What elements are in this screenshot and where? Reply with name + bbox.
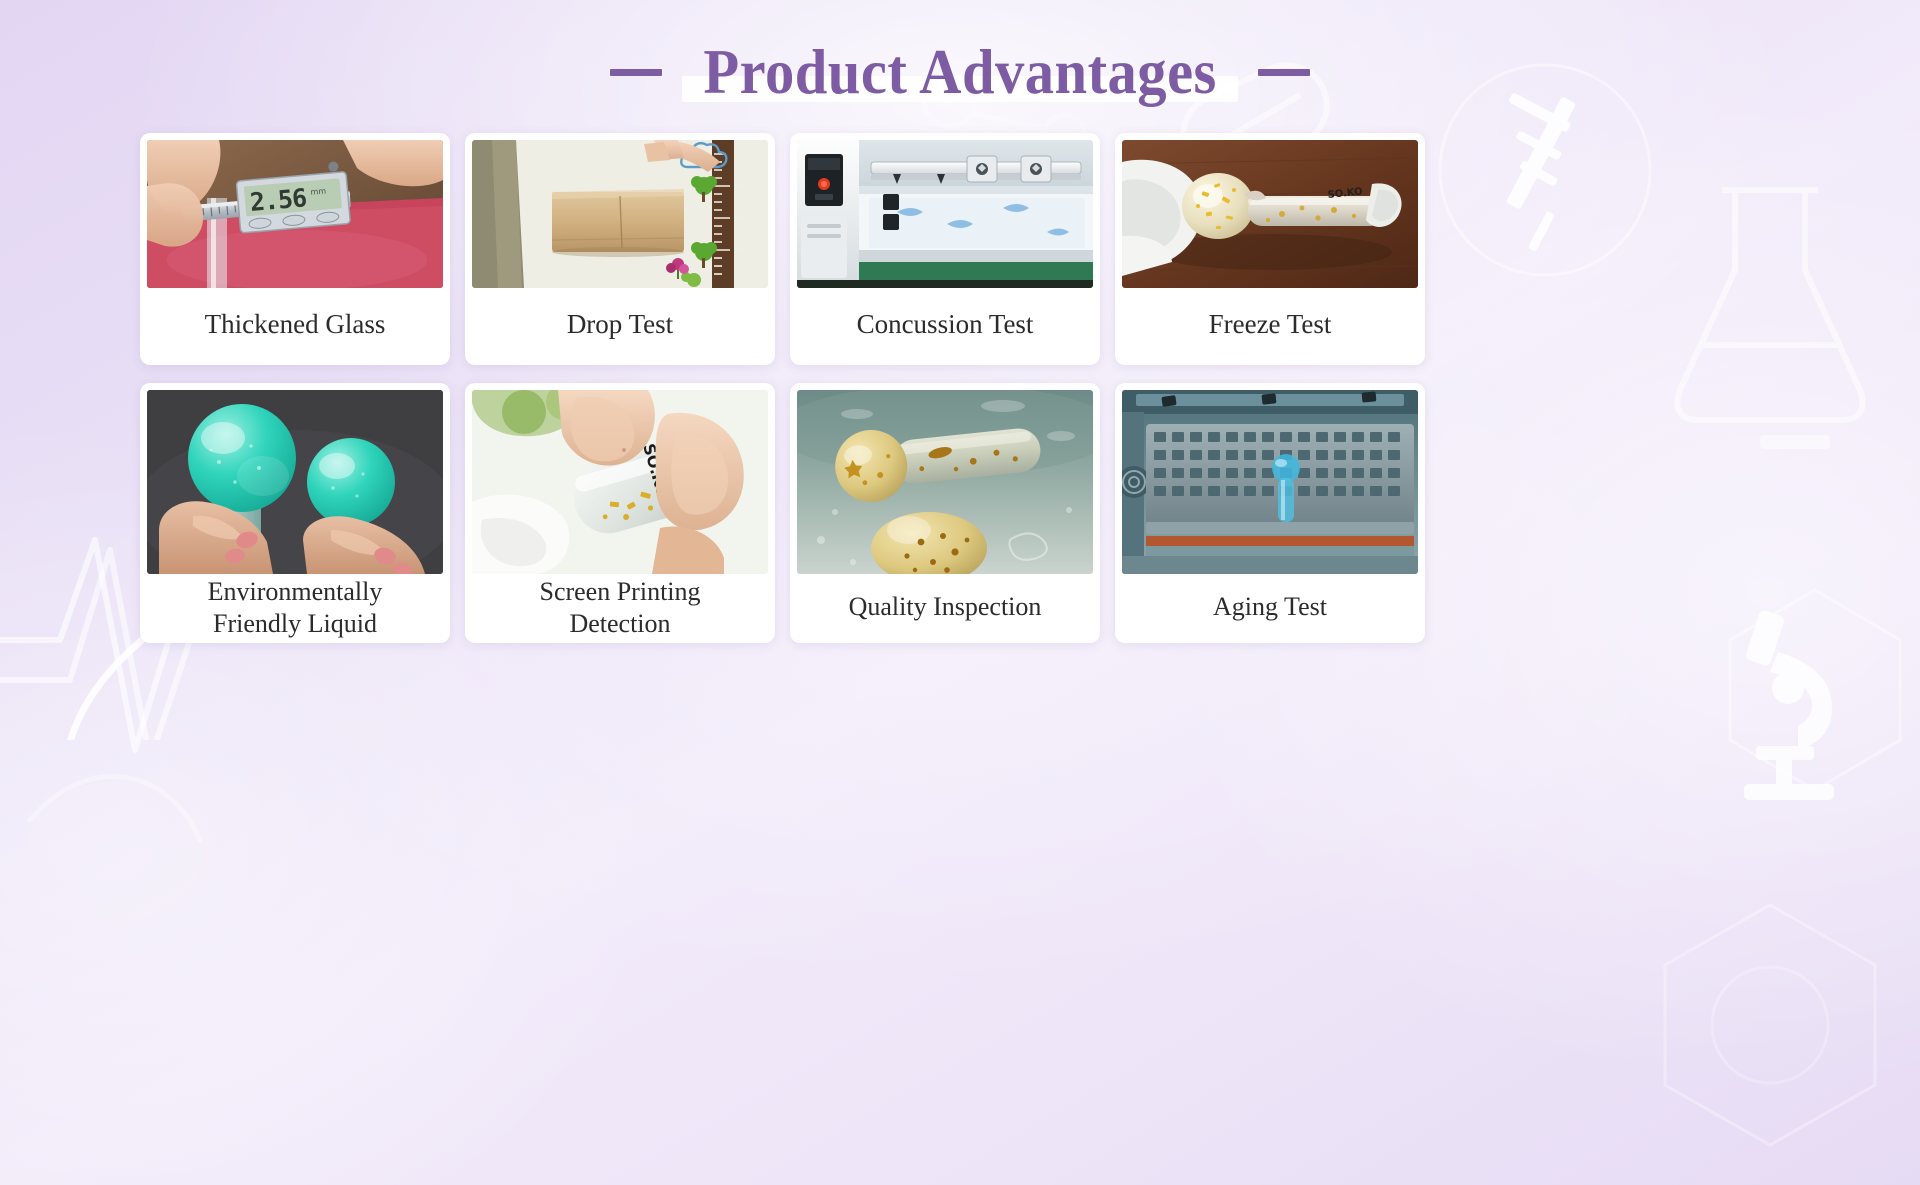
card-drop-test[interactable]: 804030 bbox=[465, 133, 775, 365]
card-concussion-test[interactable]: Concussion Test bbox=[790, 133, 1100, 365]
caption-drop-test: Drop Test bbox=[472, 288, 768, 365]
caption-quality-inspection: Quality Inspection bbox=[797, 574, 1093, 643]
caption-freeze-test: Freeze Test bbox=[1122, 288, 1418, 365]
caption-concussion-test: Concussion Test bbox=[797, 288, 1093, 365]
page-title-block: Product Advantages bbox=[0, 26, 1920, 118]
svg-text:80: 80 bbox=[734, 183, 742, 190]
hexagon-outline-icon bbox=[1620, 880, 1920, 1180]
card-thickened-glass[interactable]: 2.56 mm Thickened Glass bbox=[140, 133, 450, 365]
caption-screen-printing-detection: Screen Printing Detection bbox=[472, 574, 768, 643]
card-environmentally-friendly-liquid[interactable]: Environmentally Friendly Liquid bbox=[140, 383, 450, 643]
photo-environmentally-friendly-liquid bbox=[147, 390, 443, 574]
card-screen-printing-detection[interactable]: SO.KO Screen Printing Detection bbox=[465, 383, 775, 643]
svg-text:2.56: 2.56 bbox=[249, 183, 308, 217]
photo-thickened-glass: 2.56 mm bbox=[147, 140, 443, 288]
photo-freeze-test: SO.KO bbox=[1122, 140, 1418, 288]
title-dash-left bbox=[610, 69, 662, 76]
caption-thickened-glass: Thickened Glass bbox=[147, 288, 443, 365]
photo-screen-printing-detection: SO.KO bbox=[472, 390, 768, 574]
photo-aging-test bbox=[1122, 390, 1418, 574]
caption-environmentally-friendly-liquid: Environmentally Friendly Liquid bbox=[147, 574, 443, 643]
product-advantages-grid: 2.56 mm Thickened Glass bbox=[140, 133, 1780, 643]
title-dash-right bbox=[1258, 69, 1310, 76]
caption-aging-test: Aging Test bbox=[1122, 574, 1418, 643]
svg-text:mm: mm bbox=[310, 186, 327, 196]
page-title: Product Advantages bbox=[703, 41, 1216, 104]
card-freeze-test[interactable]: SO.KO Freeze Test bbox=[1115, 133, 1425, 365]
svg-text:30: 30 bbox=[734, 247, 742, 254]
photo-concussion-test bbox=[797, 140, 1093, 288]
photo-quality-inspection bbox=[797, 390, 1093, 574]
svg-text:40: 40 bbox=[734, 215, 742, 222]
photo-drop-test: 804030 bbox=[472, 140, 768, 288]
card-quality-inspection[interactable]: Quality Inspection bbox=[790, 383, 1100, 643]
card-aging-test[interactable]: Aging Test bbox=[1115, 383, 1425, 643]
